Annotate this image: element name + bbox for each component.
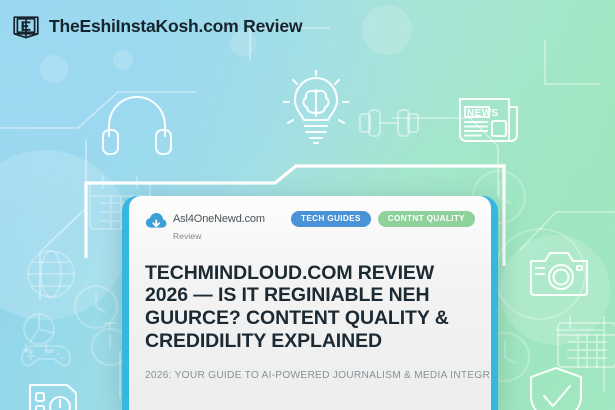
decor-ring-icon [492,226,588,322]
card-headline: TECHMINDLOUD.COM REVIEW 2026 — IS IT REG… [145,262,463,353]
game-controller-icon [20,340,72,370]
page-title: TheEshiInstaKosh.com Review [49,18,302,36]
calendar-grid-icon [555,315,615,370]
newspaper-news-icon: NEWS [457,95,521,145]
camera-icon [528,249,590,297]
card-surface: Asl4OneNewd.com Review TECH GUIDES CONTN… [129,196,491,410]
card-badges: TECH GUIDES CONTNT QUALITY [291,210,475,227]
card-brand-text: Asl4OneNewd.com Review [173,210,265,244]
card-header-row: Asl4OneNewd.com Review TECH GUIDES CONTN… [145,210,475,244]
decor-blob [40,55,68,83]
globe-icon [25,248,77,300]
card-brand-subtitle: Review [173,231,201,241]
badge-content-quality[interactable]: CONTNT QUALITY [378,211,475,227]
decor-blob [0,150,130,320]
card-brand-name: Asl4OneNewd.com [173,213,265,225]
card-subheadline: 2026: YOUR GUIDE TO AI-POWERED JOURNALIS… [145,370,475,381]
card-brand[interactable]: Asl4OneNewd.com Review [145,210,265,244]
decor-blob [362,5,412,55]
dashboard-icon [27,382,79,410]
decor-blob [500,235,610,345]
headphones-icon [101,92,173,156]
site-header: TheEshiInstaKosh.com Review [12,13,302,41]
poster-canvas: NEWS [0,0,615,410]
article-card[interactable]: Asl4OneNewd.com Review TECH GUIDES CONTN… [122,196,498,410]
shield-check-icon [527,365,585,410]
dumbbell-icon [358,106,420,140]
lightbulb-brain-icon [283,70,349,148]
badge-tech-guides[interactable]: TECH GUIDES [291,211,371,227]
clock-icon [72,283,120,331]
open-book-e-icon [12,13,40,41]
pie-chart-icon [18,312,60,357]
cloud-download-icon [145,211,167,231]
decor-blob [113,50,133,70]
svg-text:NEWS: NEWS [467,108,499,119]
